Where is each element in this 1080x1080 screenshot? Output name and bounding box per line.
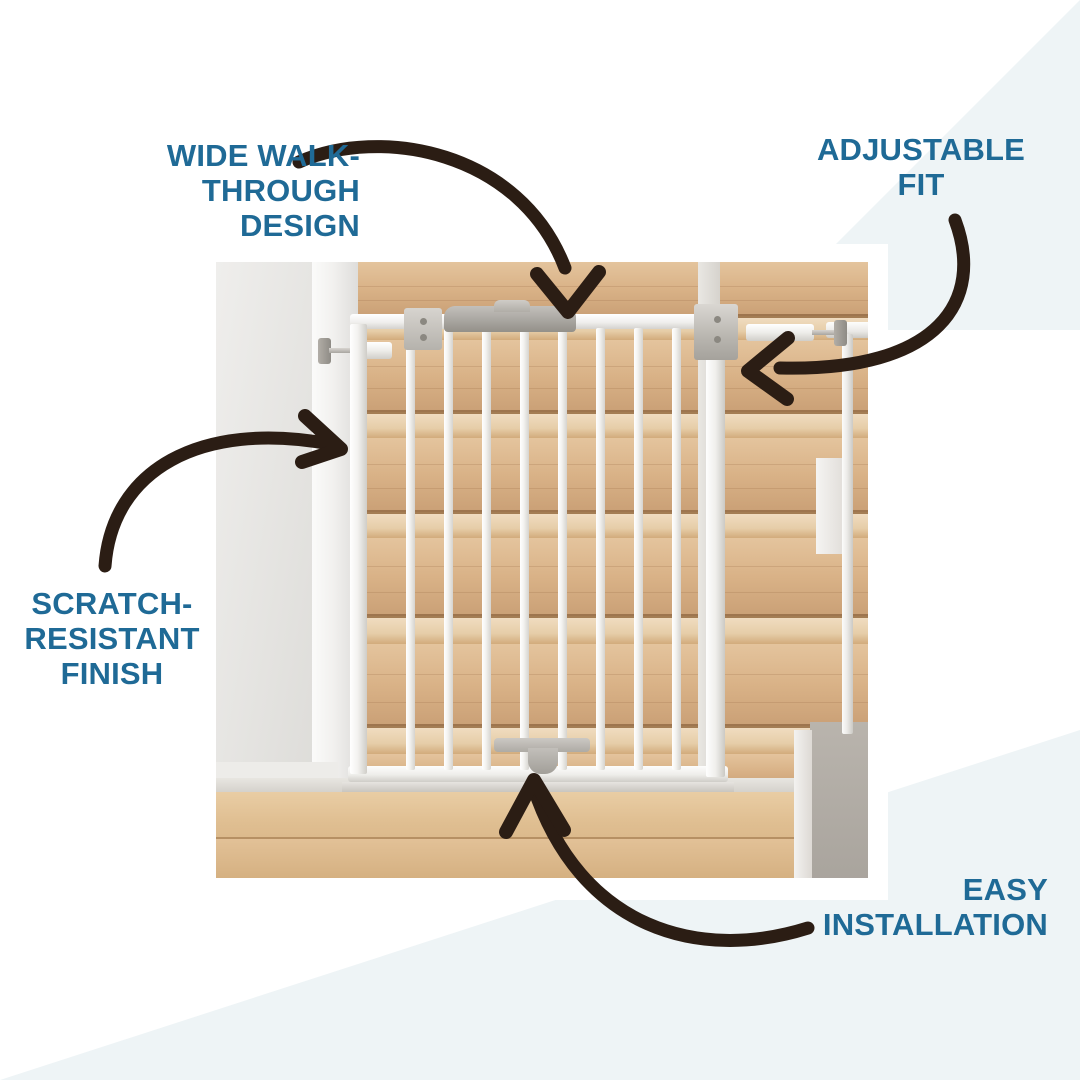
callout-line: ADJUSTABLE — [790, 132, 1052, 167]
wall-mount-cup-right — [834, 320, 847, 346]
gate-right-stile — [706, 322, 725, 777]
gate-extension-bar — [842, 334, 853, 734]
gate-hinge-block — [404, 308, 442, 350]
landing-front-face-lower — [216, 837, 868, 878]
gate-bar — [634, 328, 643, 770]
infographic-canvas: WIDE WALK- THROUGH DESIGN ADJUSTABLE FIT… — [0, 0, 1080, 1080]
gate-bar — [482, 328, 491, 770]
gate-right-screw — [714, 316, 721, 323]
gate-bar — [406, 328, 415, 770]
callout-line: THROUGH — [60, 173, 360, 208]
product-photo — [216, 262, 868, 878]
gate-bar — [558, 328, 567, 770]
callout-adjustable-fit: ADJUSTABLE FIT — [790, 132, 1052, 202]
gate-hinge-screw — [420, 334, 427, 341]
wall-mount-arm-right — [746, 324, 814, 341]
gate-right-hinge-block — [694, 304, 738, 360]
callout-line: RESISTANT — [6, 621, 218, 656]
callout-scratch-resistant-finish: SCRATCH- RESISTANT FINISH — [6, 586, 218, 691]
gate-latch-handle-nub — [494, 300, 530, 312]
callout-line: FIT — [790, 167, 1052, 202]
landing-right-shadow — [810, 722, 868, 878]
gate-bar — [444, 328, 453, 770]
callout-line: WIDE WALK- — [60, 138, 360, 173]
gate-bar — [596, 328, 605, 770]
callout-line: DESIGN — [60, 208, 360, 243]
callout-easy-installation: EASY INSTALLATION — [780, 872, 1048, 942]
gate-bottom-latch-foot — [528, 748, 558, 774]
gate-bar — [672, 328, 681, 770]
gate-hinge-screw — [420, 318, 427, 325]
gate-bar — [520, 328, 529, 770]
callout-line: FINISH — [6, 656, 218, 691]
callout-wide-walk-through: WIDE WALK- THROUGH DESIGN — [60, 138, 360, 243]
callout-line: SCRATCH- — [6, 586, 218, 621]
callout-line: INSTALLATION — [780, 907, 1048, 942]
landing-right-trim — [794, 730, 812, 878]
baby-safety-gate — [336, 314, 736, 814]
gate-right-screw — [714, 336, 721, 343]
callout-line: EASY — [780, 872, 1048, 907]
gate-left-stile — [350, 324, 367, 774]
gate-bottom-rail-lower — [342, 782, 734, 792]
